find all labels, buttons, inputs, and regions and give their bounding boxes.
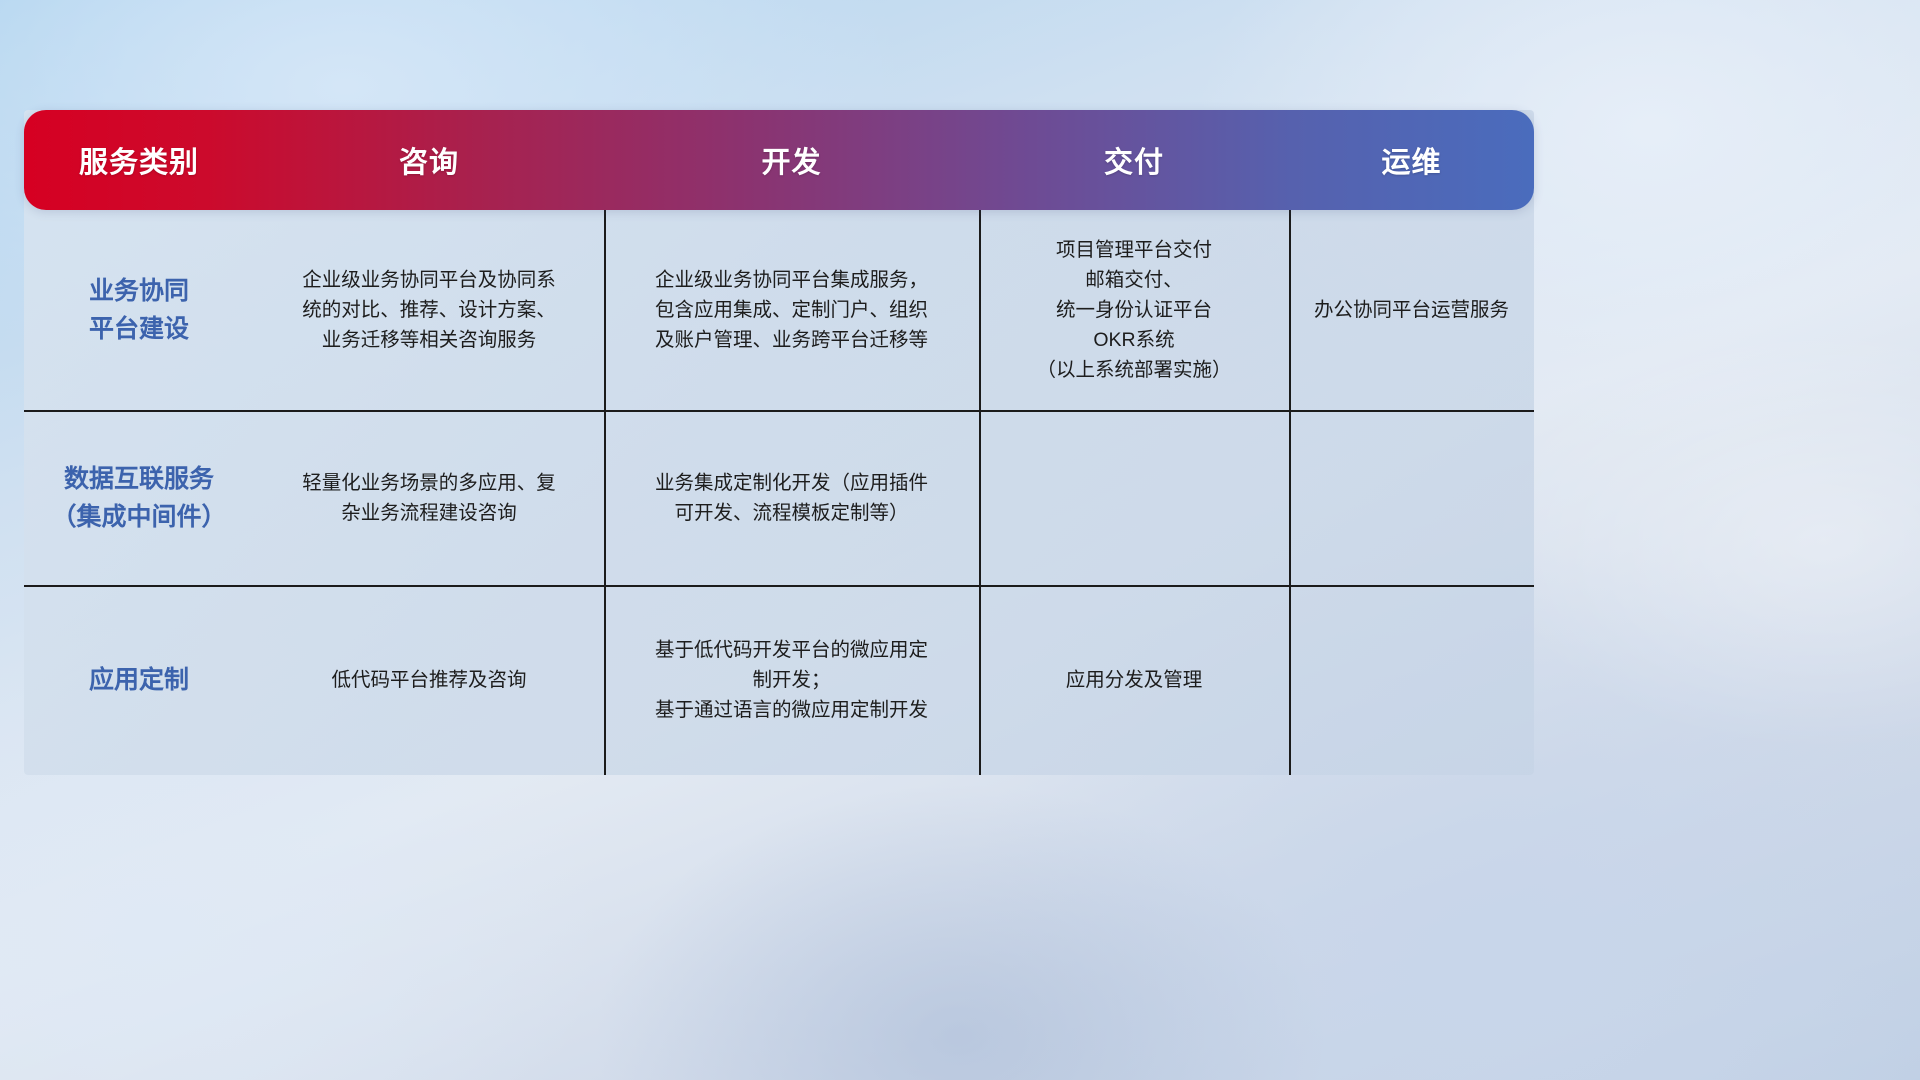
cell-development-row2: 业务集成定制化开发（应用插件 可开发、流程模板定制等） (604, 410, 979, 585)
table-row: 业务协同 平台建设 (24, 210, 254, 410)
cell-development-row3: 基于低代码开发平台的微应用定 制开发； 基于通过语言的微应用定制开发 (604, 585, 979, 775)
column-header-delivery: 交付 (979, 139, 1289, 181)
cell-consulting-row1: 企业级业务协同平台及协同系 统的对比、推荐、设计方案、 业务迁移等相关咨询服务 (254, 210, 604, 410)
service-matrix-table: 服务类别 咨询 开发 交付 运维 业务协同 平台建设 企业级业务协同平台及协同系… (24, 110, 1534, 775)
column-divider-1 (604, 210, 606, 775)
cell-delivery-row3: 应用分发及管理 (979, 585, 1289, 775)
table-grid: 业务协同 平台建设 企业级业务协同平台及协同系 统的对比、推荐、设计方案、 业务… (24, 210, 1534, 775)
table-header-row: 服务类别 咨询 开发 交付 运维 (24, 110, 1534, 210)
row-divider-2 (24, 585, 1534, 587)
cell-operations-row2 (1289, 410, 1534, 585)
cell-consulting-row2: 轻量化业务场景的多应用、复 杂业务流程建设咨询 (254, 410, 604, 585)
row-divider-1 (24, 410, 1534, 412)
column-header-operations: 运维 (1289, 139, 1534, 181)
column-divider-3 (1289, 210, 1291, 775)
column-header-development: 开发 (604, 139, 979, 181)
table-row: 数据互联服务 （集成中间件） (24, 410, 254, 585)
column-header-consulting: 咨询 (254, 139, 604, 181)
cell-delivery-row2 (979, 410, 1289, 585)
cell-operations-row3 (1289, 585, 1534, 775)
cell-operations-row1: 办公协同平台运营服务 (1289, 210, 1534, 410)
cell-development-row1: 企业级业务协同平台集成服务， 包含应用集成、定制门户、组织 及账户管理、业务跨平… (604, 210, 979, 410)
column-header-category: 服务类别 (24, 139, 254, 181)
cell-consulting-row3: 低代码平台推荐及咨询 (254, 585, 604, 775)
column-divider-2 (979, 210, 981, 775)
table-row: 应用定制 (24, 585, 254, 775)
cell-delivery-row1: 项目管理平台交付 邮箱交付、 统一身份认证平台 OKR系统 （以上系统部署实施） (979, 210, 1289, 410)
